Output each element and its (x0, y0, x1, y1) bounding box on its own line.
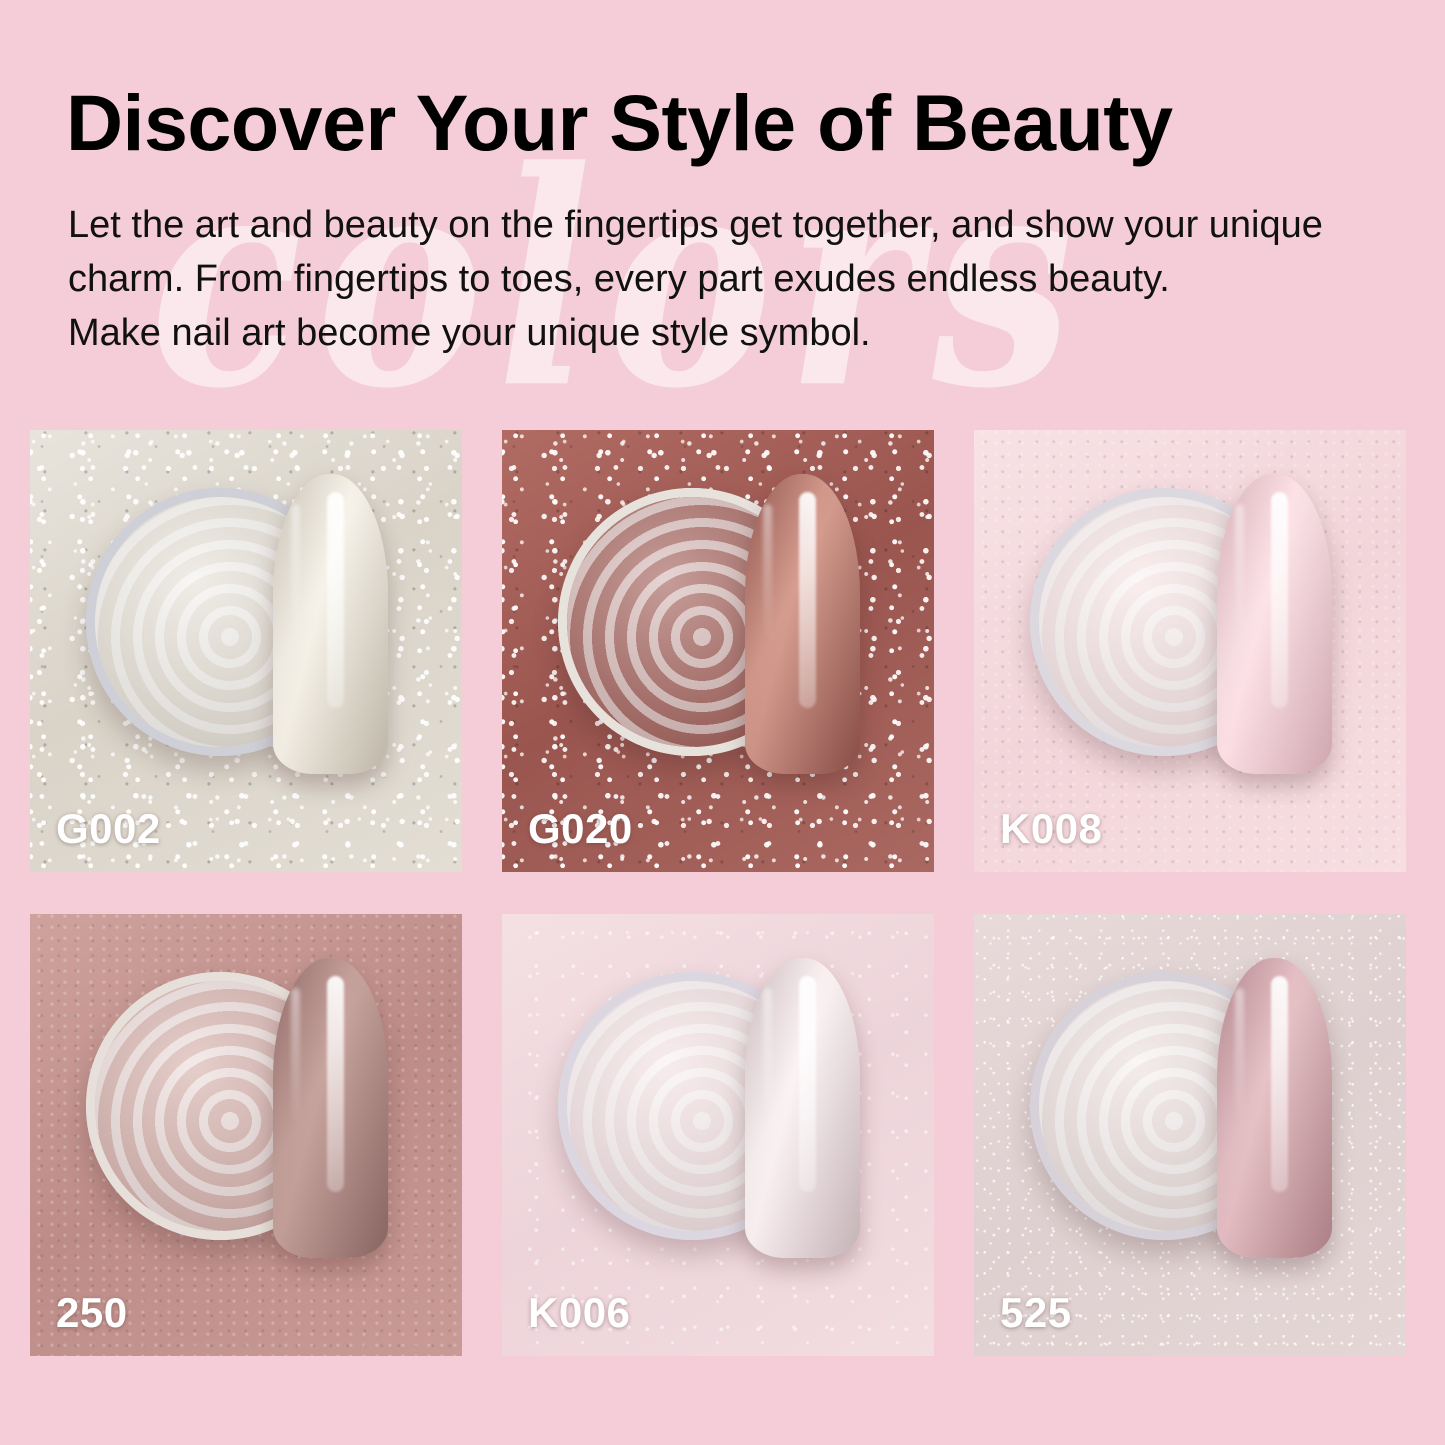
nail-tip-swatch (745, 474, 860, 774)
nail-secondary-highlight (763, 504, 772, 642)
nail-secondary-highlight (291, 988, 300, 1126)
swatch-code-label: G002 (56, 808, 161, 850)
nail-highlight (1271, 492, 1288, 708)
swatch-code-label: K006 (528, 1292, 630, 1334)
nail-highlight (799, 976, 816, 1192)
nail-tip-swatch (273, 958, 388, 1258)
nail-secondary-highlight (763, 988, 772, 1126)
description-line-3: Make nail art become your unique style s… (68, 306, 1388, 360)
page-title: Discover Your Style of Beauty (66, 79, 1396, 167)
swatch-code-label: G020 (528, 808, 633, 850)
header-section: colors Discover Your Style of Beauty Let… (0, 0, 1445, 420)
nail-tip-swatch (273, 474, 388, 774)
nail-highlight (1271, 976, 1288, 1192)
swatch-tile[interactable]: 250 (30, 914, 462, 1356)
swatch-code-label: 525 (1000, 1292, 1072, 1334)
nail-secondary-highlight (1235, 988, 1244, 1126)
nail-highlight (327, 492, 344, 708)
description-line-1: Let the art and beauty on the fingertips… (68, 198, 1388, 252)
nail-tip-swatch (1217, 958, 1332, 1258)
nail-highlight (327, 976, 344, 1192)
description-line-2: charm. From fingertips to toes, every pa… (68, 252, 1388, 306)
promo-page: colors Discover Your Style of Beauty Let… (0, 0, 1445, 1445)
nail-highlight (799, 492, 816, 708)
swatch-code-label: 250 (56, 1292, 128, 1334)
swatch-code-label: K008 (1000, 808, 1102, 850)
nail-tip-swatch (1217, 474, 1332, 774)
swatch-grid: G002G020K008250K006525 (30, 430, 1415, 1355)
nail-secondary-highlight (1235, 504, 1244, 642)
description-text: Let the art and beauty on the fingertips… (68, 198, 1388, 360)
swatch-tile[interactable]: 525 (974, 914, 1406, 1356)
nail-tip-swatch (745, 958, 860, 1258)
swatch-tile[interactable]: K006 (502, 914, 934, 1356)
swatch-tile[interactable]: G020 (502, 430, 934, 872)
nail-secondary-highlight (291, 504, 300, 642)
swatch-tile[interactable]: G002 (30, 430, 462, 872)
swatch-tile[interactable]: K008 (974, 430, 1406, 872)
